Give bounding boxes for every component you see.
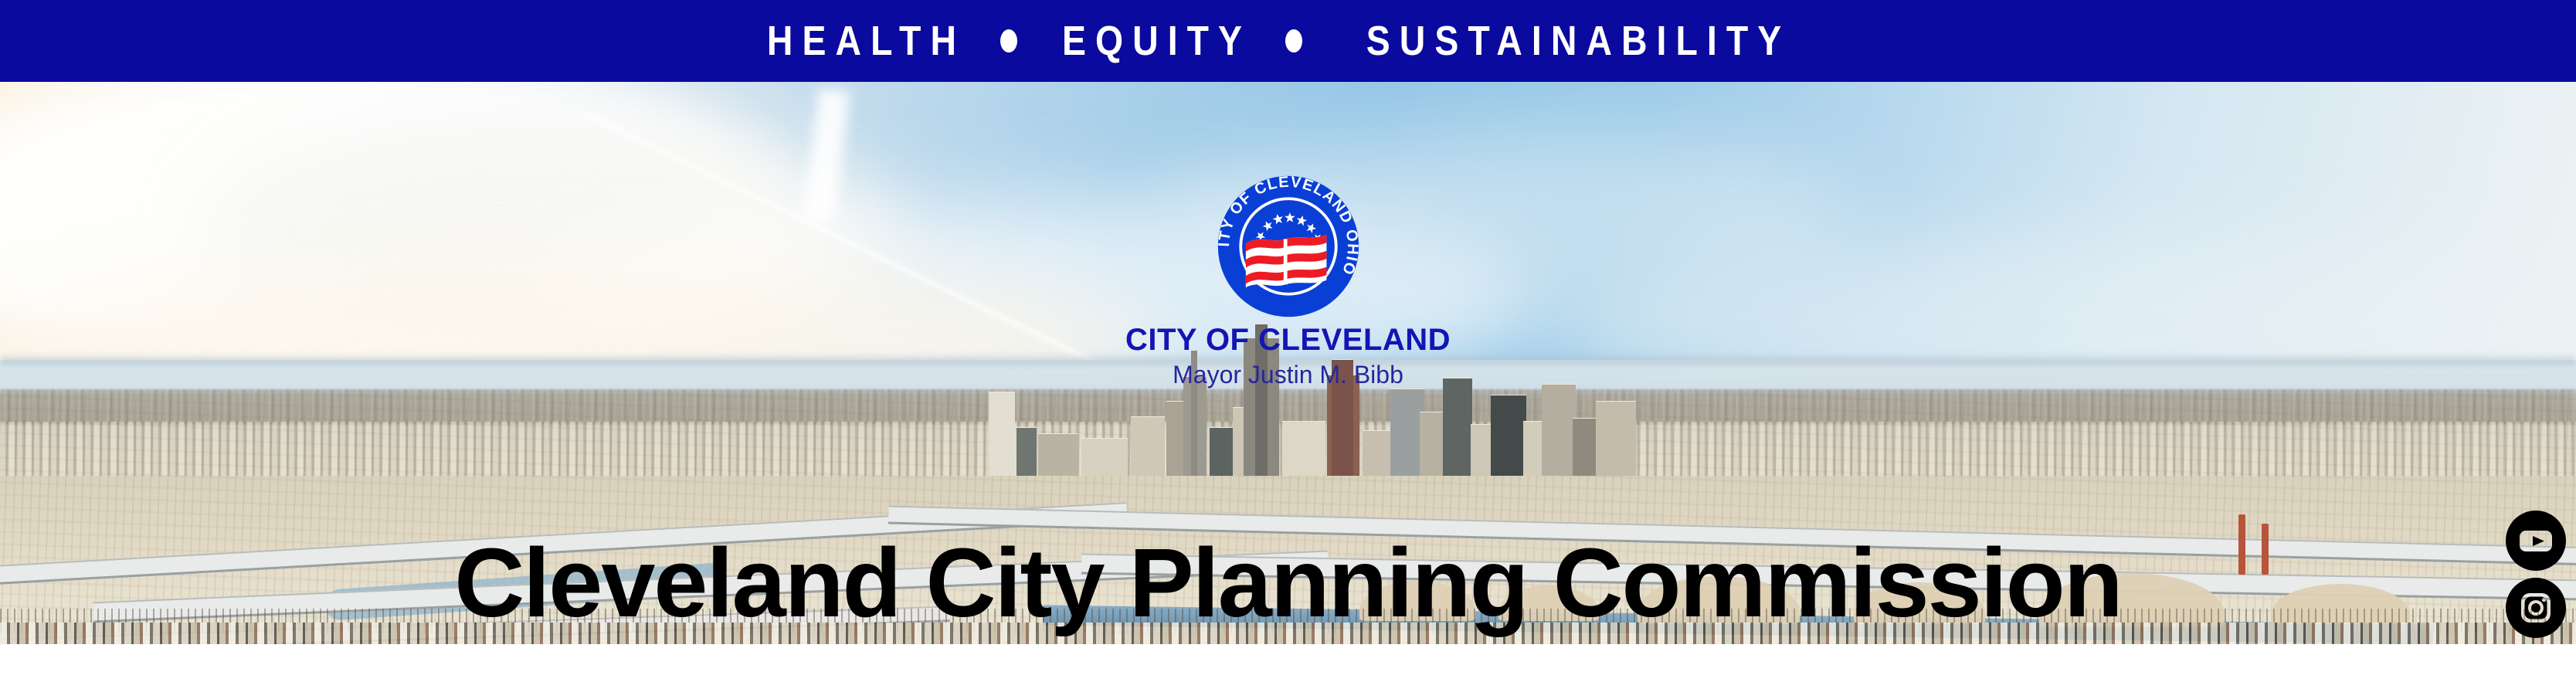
social-links [2506, 511, 2566, 644]
org-name-label: CITY OF CLEVELAND [1111, 324, 1466, 355]
bottom-white-strip [0, 644, 2576, 682]
tagline-word-equity: EQUITY [1062, 20, 1251, 62]
page-root: HEALTH EQUITY SUSTAINABILITY [0, 0, 2576, 682]
hero-photo: CITY OF CLEVELAND OHIO [0, 82, 2576, 644]
tagline-dot-icon-1 [1000, 29, 1017, 53]
city-of-cleveland-seal-icon: CITY OF CLEVELAND OHIO [1215, 173, 1362, 320]
tagline-dot-icon-2 [1285, 29, 1302, 53]
tagline-banner: HEALTH EQUITY SUSTAINABILITY [0, 0, 2576, 82]
city-logo-block[interactable]: CITY OF CLEVELAND OHIO [1111, 173, 1466, 387]
social-link-youtube[interactable] [2506, 511, 2566, 571]
mayor-name-label: Mayor Justin M. Bibb [1111, 362, 1466, 387]
youtube-icon [2506, 511, 2566, 571]
instagram-icon [2506, 578, 2566, 638]
tagline-word-sustainability: SUSTAINABILITY [1366, 20, 1791, 62]
social-link-instagram[interactable] [2506, 578, 2566, 638]
page-title: Cleveland City Planning Commission [0, 534, 2576, 632]
tagline-banner-inner: HEALTH EQUITY SUSTAINABILITY [751, 20, 1825, 62]
tagline-word-health: HEALTH [767, 20, 966, 62]
